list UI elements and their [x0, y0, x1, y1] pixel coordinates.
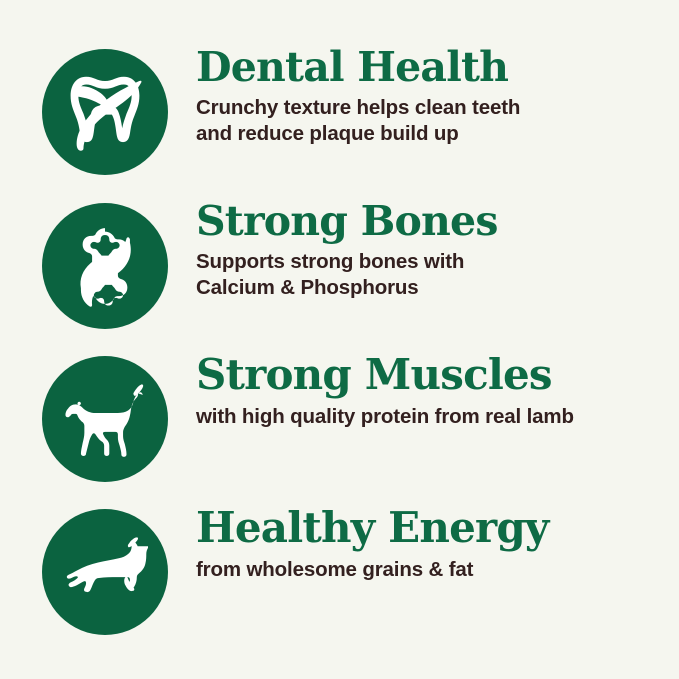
leaping-dog-icon-badge [42, 509, 168, 635]
benefit-description: from wholesome grains & fat [196, 557, 679, 583]
benefit-heading: Healthy Energy [196, 506, 679, 551]
benefit-description-line: from wholesome grains & fat [196, 557, 679, 583]
benefit-description-line: Supports strong bones with [196, 249, 679, 275]
benefit-text: Dental Health Crunchy texture helps clea… [168, 40, 679, 147]
benefit-text: Strong Bones Supports strong bones with … [168, 194, 679, 301]
bone-leaf-icon-badge [42, 203, 168, 329]
benefit-description-line: and reduce plaque build up [196, 121, 679, 147]
benefit-description: Supports strong bones with Calcium & Pho… [196, 249, 679, 301]
bone-leaf-icon [62, 223, 148, 309]
benefit-description-line: Crunchy texture helps clean teeth [196, 95, 679, 121]
benefit-text: Healthy Energy from wholesome grains & f… [168, 500, 679, 582]
benefit-row: Strong Bones Supports strong bones with … [0, 194, 679, 347]
benefit-description-line: with high quality protein from real lamb [196, 404, 679, 430]
benefit-row: Dental Health Crunchy texture helps clea… [0, 40, 679, 194]
benefit-row: Healthy Energy from wholesome grains & f… [0, 500, 679, 653]
tooth-leaf-icon-badge [42, 49, 168, 175]
benefits-panel: Dental Health Crunchy texture helps clea… [0, 0, 679, 679]
benefit-description-line: Calcium & Phosphorus [196, 275, 679, 301]
leaping-dog-icon [62, 529, 148, 615]
standing-dog-icon [62, 376, 148, 462]
benefit-heading: Dental Health [196, 46, 679, 89]
benefit-row: Strong Muscles with high quality protein… [0, 347, 679, 500]
benefit-text: Strong Muscles with high quality protein… [168, 347, 679, 429]
benefit-heading: Strong Bones [196, 200, 679, 243]
tooth-leaf-icon [62, 69, 148, 155]
benefit-description: with high quality protein from real lamb [196, 404, 679, 430]
benefit-heading: Strong Muscles [196, 353, 679, 398]
standing-dog-icon-badge [42, 356, 168, 482]
benefit-description: Crunchy texture helps clean teeth and re… [196, 95, 679, 147]
